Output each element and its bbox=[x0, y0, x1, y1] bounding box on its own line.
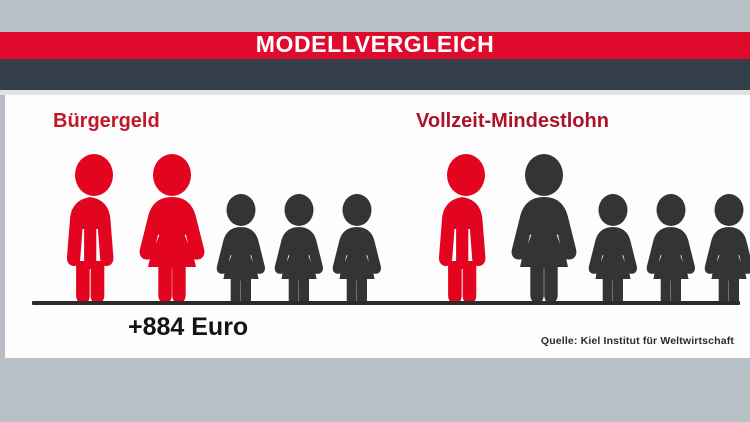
infographic-screen: MODELLVERGLEICH Bürgergeld Vollzeit-Mind… bbox=[0, 0, 750, 422]
child-figure bbox=[700, 193, 750, 303]
slate-band bbox=[0, 59, 750, 90]
man-figure bbox=[428, 153, 504, 303]
man-figure bbox=[56, 153, 132, 303]
figure-group-vollzeit-mindestlohn bbox=[428, 153, 750, 303]
content-panel: Bürgergeld Vollzeit-Mindestlohn bbox=[0, 95, 750, 358]
bottom-gutter bbox=[0, 358, 750, 422]
top-gutter bbox=[0, 0, 750, 32]
child-figure bbox=[328, 193, 386, 303]
baseline-rule bbox=[32, 301, 740, 305]
child-figure bbox=[212, 193, 270, 303]
figure-group-buergergeld bbox=[56, 153, 386, 303]
woman-figure bbox=[504, 153, 584, 303]
group-label-buergergeld: Bürgergeld bbox=[53, 110, 160, 133]
child-figure bbox=[270, 193, 328, 303]
child-figure bbox=[584, 193, 642, 303]
child-figure bbox=[642, 193, 700, 303]
source-note: Quelle: Kiel Institut für Weltwirtschaft bbox=[541, 335, 734, 347]
group-label-vollzeit-mindestlohn: Vollzeit-Mindestlohn bbox=[416, 110, 609, 133]
title-band: MODELLVERGLEICH bbox=[0, 32, 750, 59]
panel-left-edge bbox=[0, 95, 5, 358]
woman-figure bbox=[132, 153, 212, 303]
value-caption: +884 Euro bbox=[128, 313, 248, 342]
page-title: MODELLVERGLEICH bbox=[256, 33, 495, 56]
